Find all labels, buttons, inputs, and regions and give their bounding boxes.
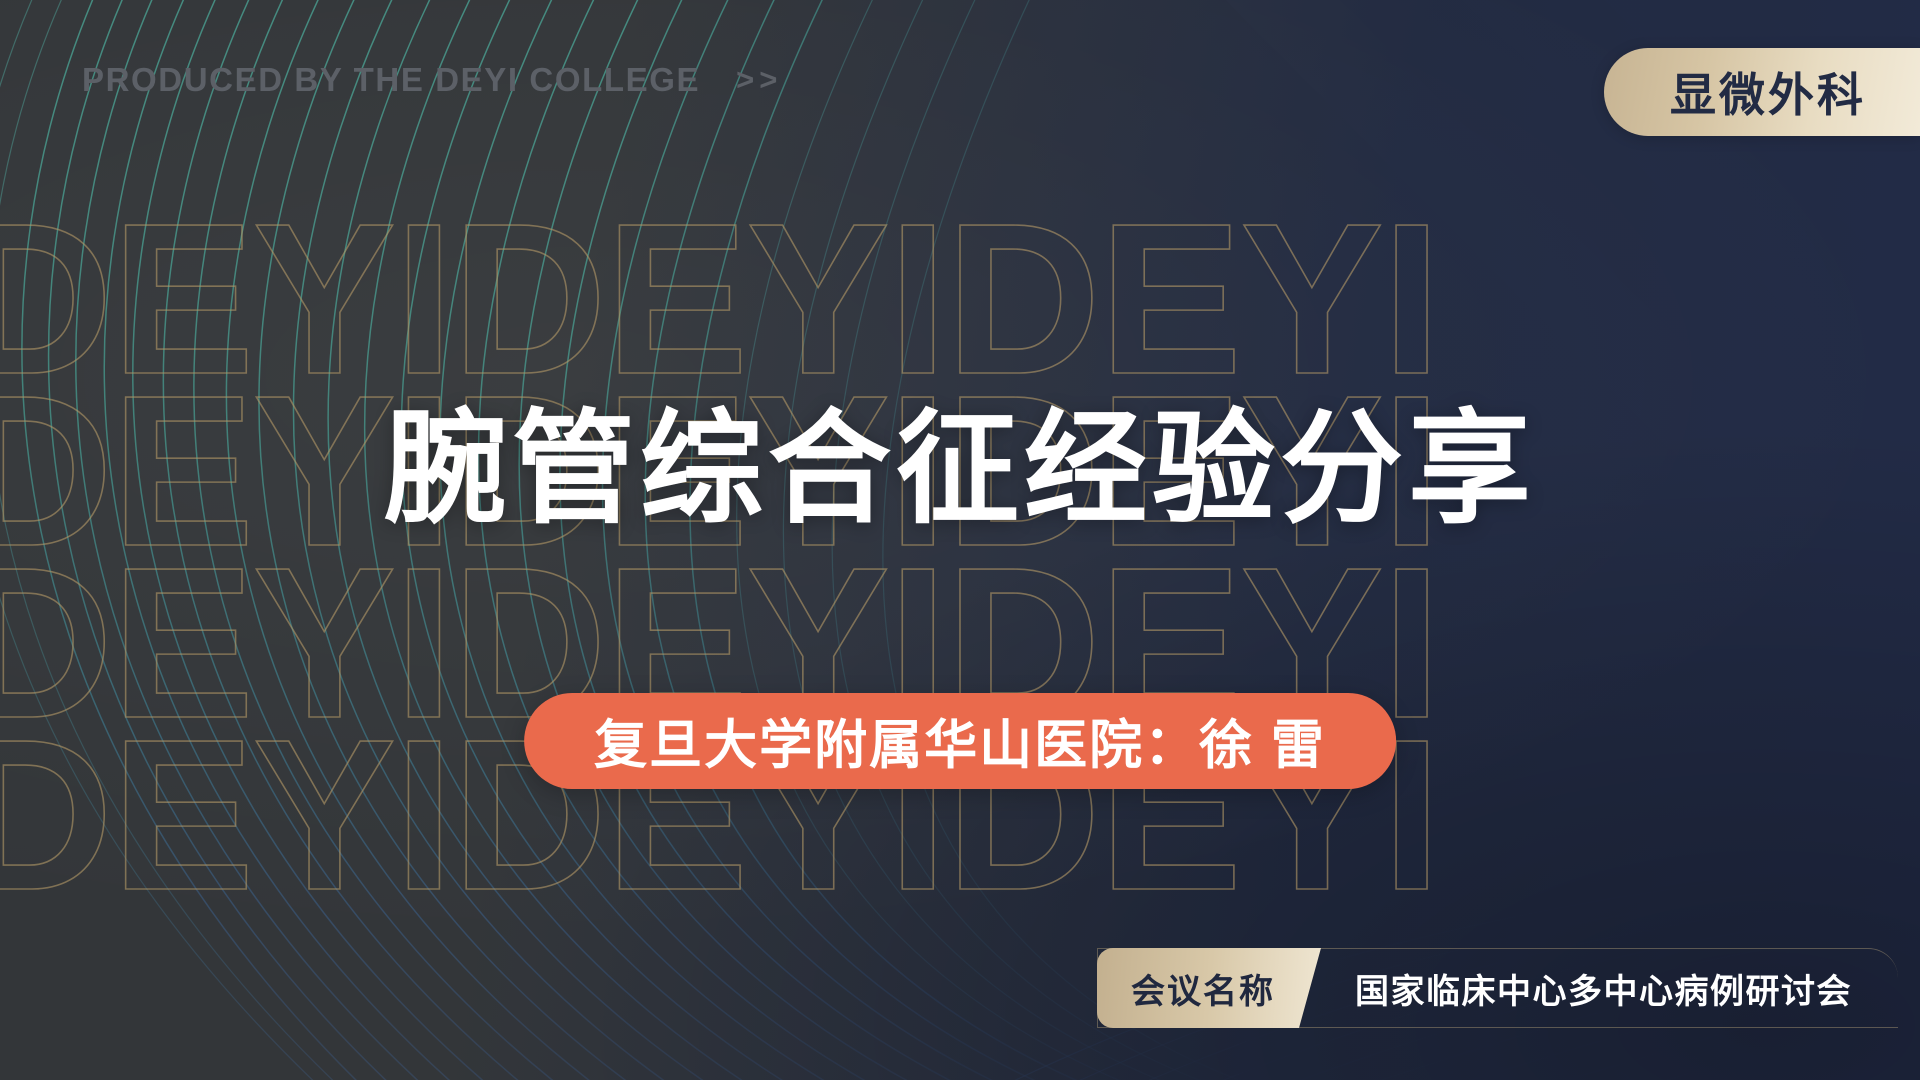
producer-header: PRODUCED BY THE DEYI COLLEGE >> [82, 61, 782, 99]
conference-name-text: 国家临床中心多中心病例研讨会 [1355, 964, 1852, 1013]
presenter-label: 复旦大学附属华山医院：徐 雷 [594, 703, 1326, 779]
conference-label-badge: 会议名称 [1097, 948, 1321, 1028]
chevron-right-icon: >> [736, 62, 782, 98]
conference-bar: 会议名称 国家临床中心多中心病例研讨会 [1097, 948, 1898, 1028]
deyi-watermark: DEYIDEYIDEYI DEYIDEYIDEYI DEYIDEYIDEYI D… [0, 213, 1920, 901]
conference-name-area: 国家临床中心多中心病例研讨会 [1321, 948, 1898, 1028]
slide-root: DEYIDEYIDEYI DEYIDEYIDEYI DEYIDEYIDEYI D… [0, 0, 1920, 1080]
presenter-pill: 复旦大学附属华山医院：徐 雷 [524, 693, 1396, 789]
page-title: 腕管综合征经验分享 [0, 404, 1920, 537]
producer-label: PRODUCED BY THE DEYI COLLEGE [82, 61, 700, 99]
conference-label-text: 会议名称 [1131, 964, 1275, 1013]
category-badge: 显微外科 [1604, 48, 1920, 136]
category-badge-label: 显微外科 [1670, 59, 1866, 125]
